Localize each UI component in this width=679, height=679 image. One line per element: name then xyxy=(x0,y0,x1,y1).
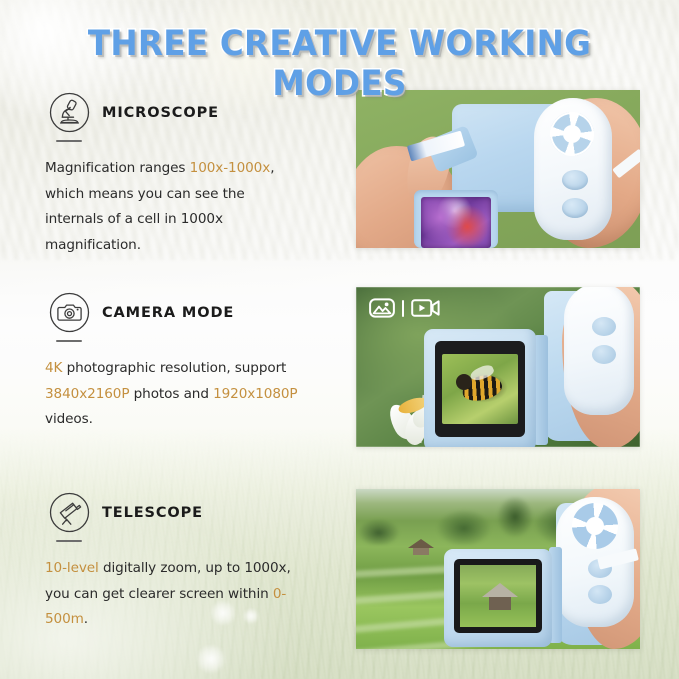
lcd-frame xyxy=(424,329,536,447)
body-run: photos and xyxy=(129,386,213,402)
section-microscope: MICROSCOPE Magnification ranges 100x-100… xyxy=(0,92,300,258)
section-camera-mode: CAMERA MODE 4K photographic resolution, … xyxy=(0,292,300,433)
body-run-highlight: 3840x2160P xyxy=(45,386,129,402)
telescope-photo xyxy=(356,489,640,649)
telescope-icon-underline xyxy=(56,540,82,543)
lcd-hinge xyxy=(534,335,548,445)
dandelion-icon xyxy=(196,644,226,674)
control-dial xyxy=(550,112,594,156)
infographic-page: THREE CREATIVE WORKING MODES xyxy=(0,0,679,679)
hut xyxy=(408,539,434,555)
lcd-bezel xyxy=(454,559,542,633)
body-run-highlight: 1920x1080P xyxy=(213,386,297,402)
lcd-frame xyxy=(444,549,552,647)
control-button xyxy=(562,198,588,218)
page-title: THREE CREATIVE WORKING MODES xyxy=(0,24,679,104)
hut-roof xyxy=(482,583,518,597)
body-run: . xyxy=(84,611,88,627)
section-telescope: TELESCOPE 10-level digitally zoom, up to… xyxy=(0,492,300,633)
control-button xyxy=(562,170,588,190)
lcd-frame xyxy=(414,190,498,248)
control-button xyxy=(588,585,612,604)
photo-icon xyxy=(369,297,395,319)
hut-wall xyxy=(413,548,429,555)
lcd-bezel xyxy=(435,341,525,437)
lcd-screen-cell-view xyxy=(421,197,491,248)
section-telescope-heading: TELESCOPE xyxy=(102,505,203,521)
zoomed-hut xyxy=(482,583,518,611)
body-run: photographic resolution, support xyxy=(62,360,286,376)
body-run: videos. xyxy=(45,411,93,427)
page-title-text: THREE CREATIVE WORKING MODES xyxy=(24,24,655,104)
hut-roof xyxy=(408,539,434,548)
microscope-icon-underline xyxy=(56,140,82,143)
microscope-photo xyxy=(356,90,640,248)
body-run-highlight: 4K xyxy=(45,360,62,376)
lcd-screen-bee-view xyxy=(442,354,518,424)
control-button xyxy=(592,345,616,364)
telescope-icon xyxy=(49,492,90,533)
mode-overlay-icons xyxy=(369,297,441,319)
lcd-screen-zoom-view xyxy=(460,565,536,627)
body-run-highlight: 100x-1000x xyxy=(190,160,271,176)
control-dial xyxy=(572,503,618,549)
control-button xyxy=(592,317,616,336)
body-run-highlight: 10-level xyxy=(45,560,99,576)
section-microscope-body: Magnification ranges 100x-1000x, which m… xyxy=(0,156,300,258)
hut-wall xyxy=(489,597,511,610)
section-camera-mode-header: CAMERA MODE xyxy=(0,292,300,333)
section-telescope-header: TELESCOPE xyxy=(0,492,300,533)
video-icon xyxy=(411,297,441,319)
camera-icon xyxy=(49,292,90,333)
body-run: Magnification ranges xyxy=(45,160,190,176)
section-camera-mode-body: 4K photographic resolution, support 3840… xyxy=(0,356,300,433)
section-microscope-heading: MICROSCOPE xyxy=(102,105,219,121)
camera-icon-underline xyxy=(56,340,82,343)
overlay-divider xyxy=(402,300,404,317)
section-telescope-body: 10-level digitally zoom, up to 1000x, yo… xyxy=(0,556,300,633)
camera-mode-photo xyxy=(356,287,640,447)
section-camera-mode-heading: CAMERA MODE xyxy=(102,305,234,321)
